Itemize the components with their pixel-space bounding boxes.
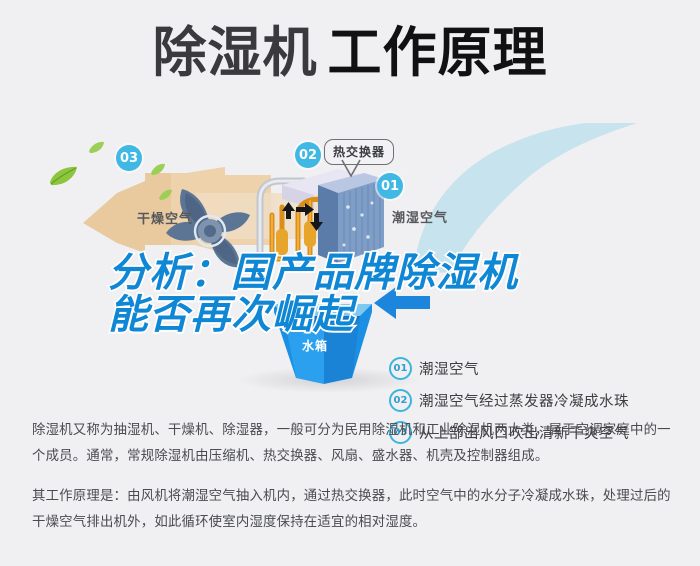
page-title: 除湿机工作原理 <box>0 26 700 80</box>
leaf-icon <box>48 165 78 187</box>
paragraph-1: 除湿机又称为抽湿机、干燥机、除湿器，一般可分为民用除湿机和工业除湿机两大类，属于… <box>32 418 672 470</box>
page-title-part-2: 工作原理 <box>328 21 548 84</box>
legend-item: 02 潮湿空气经过蒸发器冷凝成水珠 <box>389 384 689 416</box>
leaf-icon <box>88 141 105 154</box>
arrow-left-icon <box>372 287 432 321</box>
label-dry-air: 干燥空气 <box>137 208 193 227</box>
legend-badge-02: 02 <box>389 389 412 412</box>
legend-text-02: 潮湿空气经过蒸发器冷凝成水珠 <box>419 390 629 411</box>
callout-pointer-icon <box>340 159 362 179</box>
label-humid-air: 潮湿空气 <box>392 207 448 226</box>
dehumidifier-diagram: 水箱 热交换器 03 02 01 干燥空气 潮湿空气 01 潮湿空气 02 潮湿… <box>0 115 700 410</box>
page-title-part-1: 除湿机 <box>153 21 318 84</box>
diagram-badge-03: 03 <box>116 145 142 171</box>
article-body: 除湿机又称为抽湿机、干燥机、除湿器，一般可分为民用除湿机和工业除湿机两大类，属于… <box>32 418 672 551</box>
diagram-badge-02: 02 <box>295 142 321 168</box>
legend-badge-01: 01 <box>389 357 412 380</box>
paragraph-2: 其工作原理是：由风机将潮湿空气抽入机内，通过热交换器，此时空气中的水分子冷凝成水… <box>32 484 672 536</box>
airflow-swoosh-graphic <box>408 123 648 273</box>
legend-item: 01 潮湿空气 <box>389 352 689 384</box>
page-root: 除湿机工作原理 <box>0 0 700 566</box>
legend-text-01: 潮湿空气 <box>419 358 479 379</box>
diagram-badge-01: 01 <box>377 173 403 199</box>
water-tank-label: 水箱 <box>302 337 328 354</box>
heat-exchanger-graphic <box>252 155 392 285</box>
